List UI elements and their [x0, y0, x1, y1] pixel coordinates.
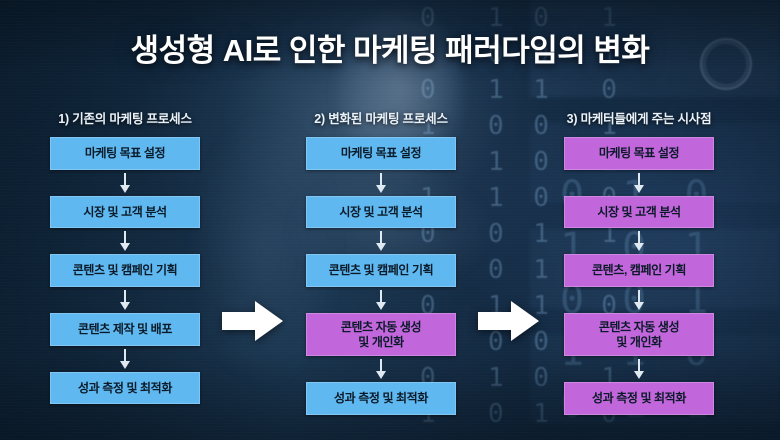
flow-node[interactable]: 콘텐츠 및 캠페인 기획: [50, 254, 200, 287]
flow-connector-arrow-icon: [637, 231, 641, 251]
flow-connector-arrow-icon: [637, 173, 641, 193]
flow-node-highlight[interactable]: 시장 및 고객 분석: [564, 196, 714, 229]
flow-node[interactable]: 마케팅 목표 설정: [306, 137, 456, 170]
flow-node[interactable]: 성과 측정 및 최적화: [50, 372, 200, 405]
flow-chain-changed: 마케팅 목표 설정 시장 및 고객 분석 콘텐츠 및 캠페인 기획 콘텐츠 자동…: [258, 137, 504, 415]
flow-connector-arrow-icon: [123, 173, 127, 193]
flow-connector-arrow-icon: [123, 231, 127, 251]
flow-connector-arrow-icon: [379, 231, 383, 251]
slide-title: 생성형 AI로 인한 마케팅 패러다임의 변화: [0, 25, 780, 70]
flow-connector-arrow-icon: [637, 290, 641, 310]
flow-connector-arrow-icon: [123, 290, 127, 310]
process-comparison-diagram: 1) 기존의 마케팅 프로세스 마케팅 목표 설정 시장 및 고객 분석 콘텐츠…: [0, 108, 780, 428]
flow-node[interactable]: 콘텐츠 제작 및 배포: [50, 313, 200, 346]
flow-chain-implications: 마케팅 목표 설정 시장 및 고객 분석 콘텐츠, 캠페인 기획 콘텐츠 자동 …: [516, 137, 762, 415]
column-header-implications: 3) 마케터들에게 주는 시사점: [516, 108, 762, 127]
flow-node[interactable]: 시장 및 고객 분석: [50, 196, 200, 229]
flow-connector-arrow-icon: [379, 290, 383, 310]
flow-connector-arrow-icon: [637, 359, 641, 379]
flow-node-highlight[interactable]: 콘텐츠 자동 생성및 개인화: [564, 313, 714, 356]
flow-chain-existing: 마케팅 목표 설정 시장 및 고객 분석 콘텐츠 및 캠페인 기획 콘텐츠 제작…: [2, 137, 248, 404]
process-column-implications: 3) 마케터들에게 주는 시사점 마케팅 목표 설정 시장 및 고객 분석 콘텐…: [516, 108, 762, 415]
flow-node-highlight[interactable]: 콘텐츠 자동 생성및 개인화: [306, 313, 456, 356]
flow-node-highlight[interactable]: 성과 측정 및 최적화: [564, 382, 714, 415]
process-column-changed: 2) 변화된 마케팅 프로세스 마케팅 목표 설정 시장 및 고객 분석 콘텐츠…: [258, 108, 504, 415]
flow-connector-arrow-icon: [379, 173, 383, 193]
flow-connector-arrow-icon: [379, 359, 383, 379]
column-header-existing: 1) 기존의 마케팅 프로세스: [2, 108, 248, 127]
flow-node[interactable]: 콘텐츠 및 캠페인 기획: [306, 254, 456, 287]
process-column-existing: 1) 기존의 마케팅 프로세스 마케팅 목표 설정 시장 및 고객 분석 콘텐츠…: [2, 108, 248, 404]
flow-node[interactable]: 마케팅 목표 설정: [50, 137, 200, 170]
flow-node[interactable]: 시장 및 고객 분석: [306, 196, 456, 229]
flow-node-highlight[interactable]: 마케팅 목표 설정: [564, 137, 714, 170]
slide-root: 0 1 0 11 0 0 10 1 1 01 0 0 10 1 0 11 1 0…: [0, 0, 780, 440]
flow-connector-arrow-icon: [123, 349, 127, 369]
flow-node[interactable]: 성과 측정 및 최적화: [306, 382, 456, 415]
transition-arrow-right-icon: [478, 300, 540, 342]
flow-node-highlight[interactable]: 콘텐츠, 캠페인 기획: [564, 254, 714, 287]
transition-arrow-right-icon: [222, 300, 284, 342]
column-header-changed: 2) 변화된 마케팅 프로세스: [258, 108, 504, 127]
